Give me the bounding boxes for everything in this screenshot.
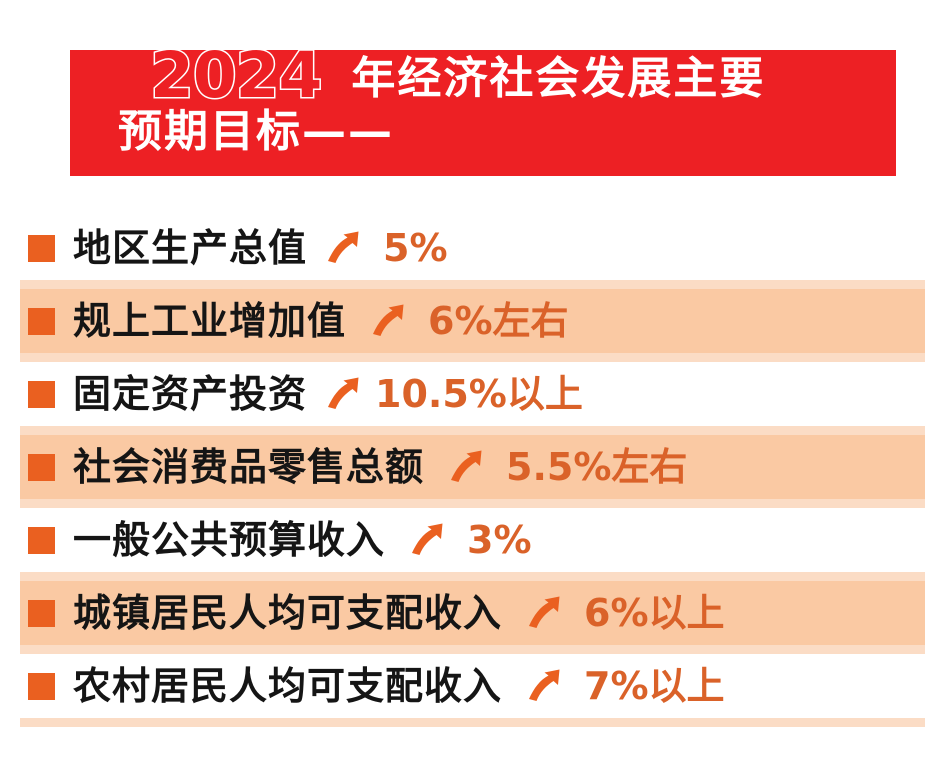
up-arrow-icon <box>325 228 365 268</box>
header-title-line-2: 预期目标—— <box>118 110 394 154</box>
goal-list: 地区生产总值5%规上工业增加值6%左右固定资产投资10.5%以上社会消费品零售总… <box>0 216 945 727</box>
goal-row-wrapper: 社会消费品零售总额5.5%左右 <box>0 435 945 499</box>
row-separator <box>20 645 925 654</box>
goal-row[interactable]: 城镇居民人均可支配收入6%以上 <box>20 581 925 645</box>
header-title-line-1: 2024 年经济社会发展主要 <box>150 36 765 106</box>
row-separator <box>20 353 925 362</box>
goal-row[interactable]: 地区生产总值5% <box>20 216 925 280</box>
row-separator <box>20 280 925 289</box>
goal-row[interactable]: 社会消费品零售总额5.5%左右 <box>20 435 925 499</box>
goal-label: 规上工业增加值 <box>73 302 346 340</box>
header-title-main: 年经济社会发展主要 <box>351 57 765 101</box>
goal-row-wrapper: 地区生产总值5% <box>0 216 945 280</box>
goal-value: 6%左右 <box>428 302 569 340</box>
goal-label: 一般公共预算收入 <box>73 521 385 559</box>
goal-value: 5.5%左右 <box>506 448 687 486</box>
goal-row-wrapper: 规上工业增加值6%左右 <box>0 289 945 353</box>
year-outline-text: 2024 <box>150 46 321 106</box>
goal-row-wrapper: 城镇居民人均可支配收入6%以上 <box>0 581 945 645</box>
goal-row-wrapper: 固定资产投资10.5%以上 <box>0 362 945 426</box>
goal-label: 社会消费品零售总额 <box>73 448 424 486</box>
goal-row-wrapper: 一般公共预算收入3% <box>0 508 945 572</box>
header-text-layer: 2024 年经济社会发展主要 预期目标—— <box>70 30 896 180</box>
up-arrow-icon <box>526 666 566 706</box>
goal-value: 3% <box>467 521 532 559</box>
up-arrow-icon <box>409 520 449 560</box>
row-separator <box>20 426 925 435</box>
goal-label: 固定资产投资 <box>73 375 307 413</box>
square-bullet-icon <box>28 673 55 700</box>
up-arrow-icon <box>325 374 365 414</box>
goal-label: 地区生产总值 <box>73 229 307 267</box>
goal-value: 6%以上 <box>584 594 725 632</box>
goal-row-wrapper: 农村居民人均可支配收入7%以上 <box>0 654 945 718</box>
up-arrow-icon <box>370 301 410 341</box>
square-bullet-icon <box>28 600 55 627</box>
row-separator <box>20 718 925 727</box>
row-separator <box>20 499 925 508</box>
square-bullet-icon <box>28 527 55 554</box>
square-bullet-icon <box>28 235 55 262</box>
up-arrow-icon <box>526 593 566 633</box>
square-bullet-icon <box>28 381 55 408</box>
goal-row[interactable]: 农村居民人均可支配收入7%以上 <box>20 654 925 718</box>
goal-value: 7%以上 <box>584 667 725 705</box>
up-arrow-icon <box>448 447 488 487</box>
goal-row[interactable]: 固定资产投资10.5%以上 <box>20 362 925 426</box>
goal-label: 城镇居民人均可支配收入 <box>73 594 502 632</box>
square-bullet-icon <box>28 454 55 481</box>
row-separator <box>20 572 925 581</box>
goal-value: 10.5%以上 <box>375 375 583 413</box>
goal-label: 农村居民人均可支配收入 <box>73 667 502 705</box>
goal-row[interactable]: 一般公共预算收入3% <box>20 508 925 572</box>
goal-row[interactable]: 规上工业增加值6%左右 <box>20 289 925 353</box>
infographic-page: 2024 年经济社会发展主要 预期目标—— 地区生产总值5%规上工业增加值6%左… <box>0 0 945 783</box>
goal-value: 5% <box>383 229 448 267</box>
square-bullet-icon <box>28 308 55 335</box>
